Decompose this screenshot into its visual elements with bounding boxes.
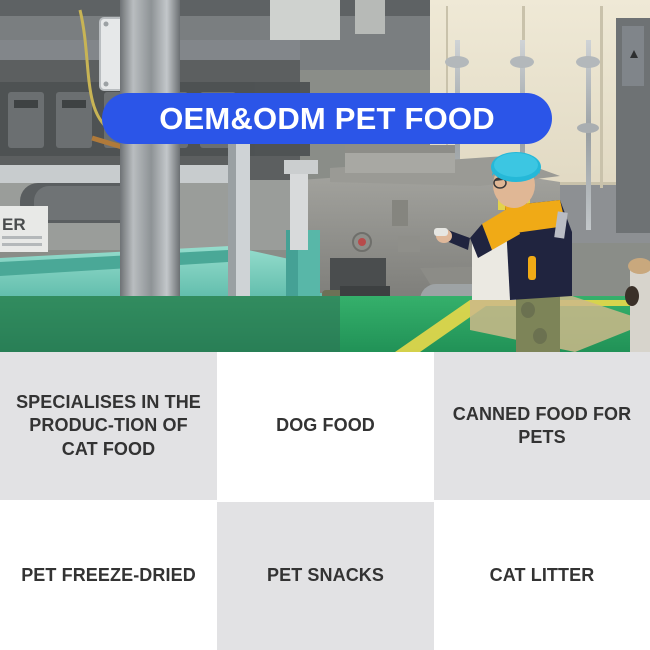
category-cell-cat-litter[interactable]: CAT LITTER	[434, 502, 650, 650]
category-cell-cat-food[interactable]: SPECIALISES IN THE PRODUC-TION OF CAT FO…	[0, 352, 217, 500]
oem-odm-badge-label: OEM&ODM PET FOOD	[159, 103, 495, 134]
pet-food-promo-page: ER	[0, 0, 650, 650]
category-label-cat-food: SPECIALISES IN THE PRODUC-TION OF CAT FO…	[10, 391, 207, 460]
category-label-canned-food: CANNED FOOD FOR PETS	[444, 403, 640, 449]
oem-odm-badge[interactable]: OEM&ODM PET FOOD	[102, 93, 552, 144]
category-cell-canned-food[interactable]: CANNED FOOD FOR PETS	[434, 352, 650, 500]
category-label-cat-litter: CAT LITTER	[490, 564, 595, 587]
factory-photo-illustration: ER	[0, 0, 650, 352]
category-cell-pet-snacks[interactable]: PET SNACKS	[217, 502, 434, 650]
category-label-dog-food: DOG FOOD	[276, 414, 375, 437]
category-cell-pet-freeze-dried[interactable]: PET FREEZE-DRIED	[0, 502, 217, 650]
factory-photo: ER	[0, 0, 650, 352]
category-cell-dog-food[interactable]: DOG FOOD	[217, 352, 434, 500]
category-label-pet-freeze-dried: PET FREEZE-DRIED	[21, 564, 196, 587]
category-grid: SPECIALISES IN THE PRODUC-TION OF CAT FO…	[0, 352, 650, 650]
category-label-pet-snacks: PET SNACKS	[267, 564, 384, 587]
svg-text:ER: ER	[2, 215, 26, 234]
